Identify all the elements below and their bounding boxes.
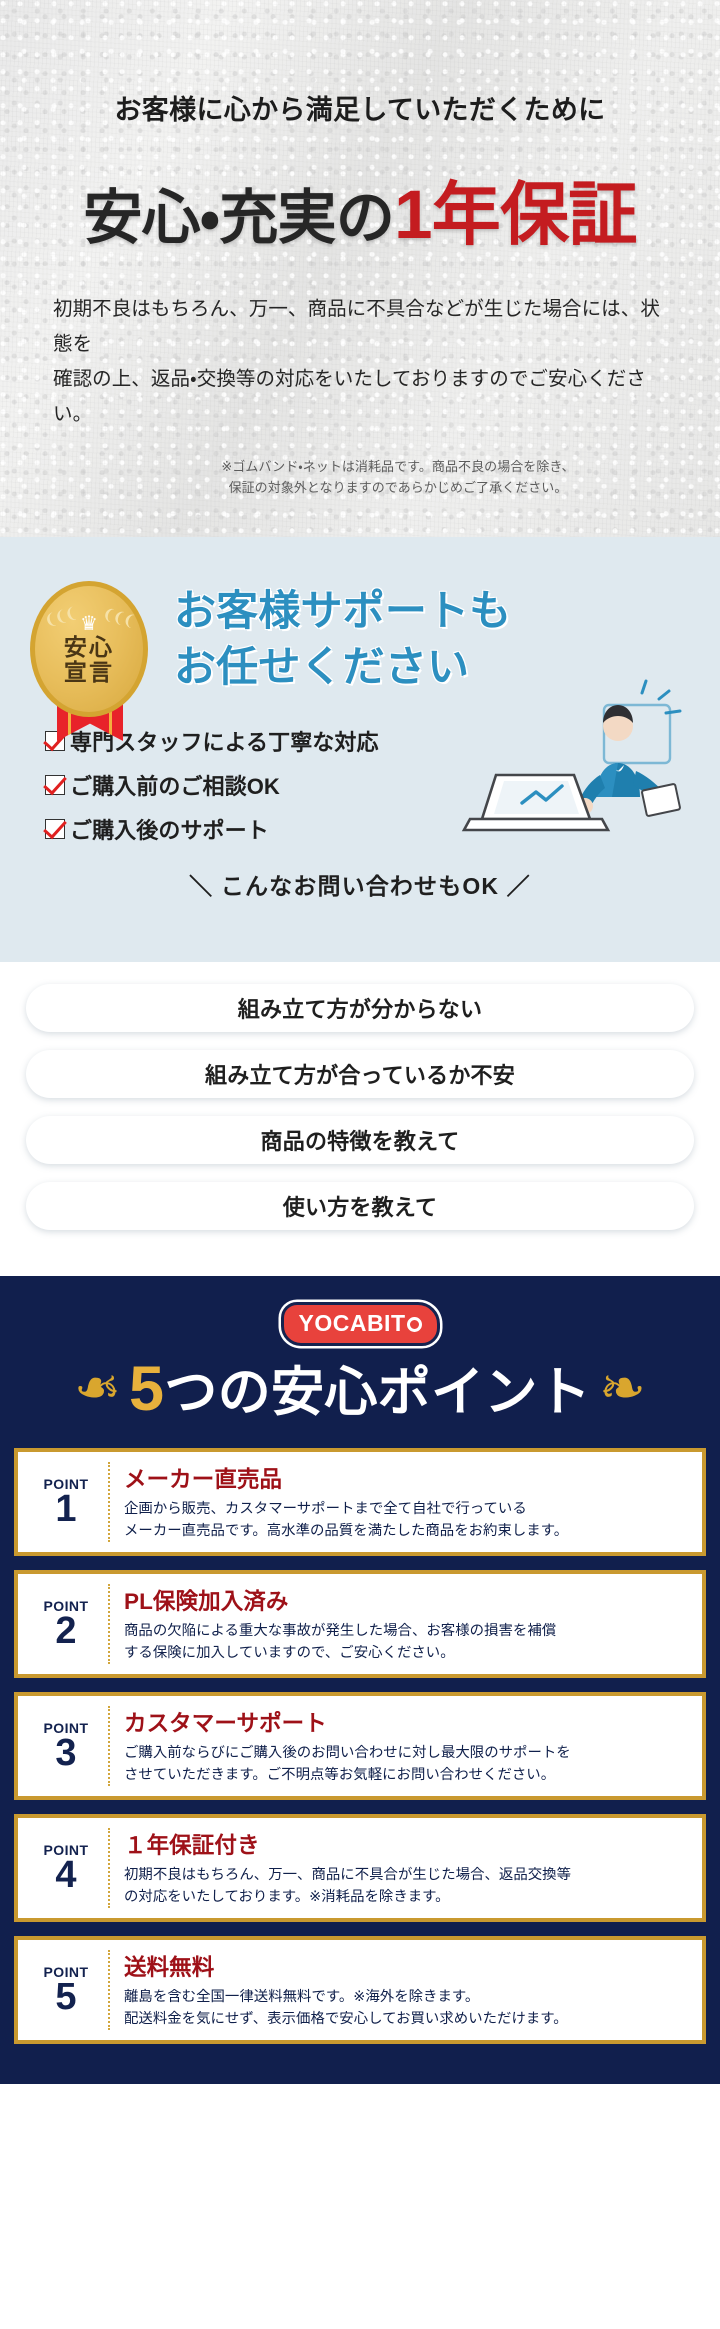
point-number: 2	[55, 1613, 76, 1650]
point-title: メーカー直売品	[124, 1462, 688, 1494]
medal-label-line-1: 安心	[64, 635, 114, 659]
point-card: POINT 3 カスタマーサポート ご購入前ならびにご購入後のお問い合わせに対し…	[14, 1692, 706, 1800]
laurel-left-icon: ❨❨❨	[43, 606, 78, 629]
five-points-section: YOCABIT ❧ 5つの安心ポイント ❧ POINT 1 メーカー直売品 企画…	[0, 1276, 720, 2084]
point-description-line-1: 企画から販売、カスタマーサポートまで全て自社で行っている	[124, 1498, 688, 1520]
point-description: 離島を含む全国一律送料無料です。※海外を除きます。 配送料金を気にせず、表示価格…	[124, 1986, 688, 2030]
medal-label-line-2: 宣言	[64, 660, 114, 684]
checkbox-checked-icon	[45, 819, 65, 839]
support-heading: お客様サポートも お任せください	[174, 577, 511, 696]
warranty-headline-plain: 安心・充実の	[83, 185, 394, 251]
point-description-line-1: ご購入前ならびにご購入後のお問い合わせに対し最大限のサポートを	[124, 1742, 688, 1764]
point-card: POINT 5 送料無料 離島を含む全国一律送料無料です。※海外を除きます。 配…	[14, 1936, 706, 2044]
warranty-body: 初期不良はもちろん、万一、商品に不具合などが生じた場合には、状態を 確認の上、返…	[53, 292, 667, 432]
customer-support-section: ❨❨❨ ❨❨❨ ♛ 安心 宣言 お客様サポートも お任せください 専門スタッフに	[0, 537, 720, 962]
medal-label: 安心 宣言	[64, 635, 114, 683]
point-number: 3	[55, 1735, 76, 1772]
laurel-branch-left-icon: ❧	[74, 1360, 121, 1416]
warranty-section: お客様に心から満足していただくために 安心・充実の1年保証 初期不良はもちろん、…	[0, 0, 720, 537]
point-description: 企画から販売、カスタマーサポートまで全て自社で行っている メーカー直売品です。高…	[124, 1498, 688, 1542]
inquiry-pill[interactable]: 商品の特徴を教えて	[26, 1116, 694, 1164]
point-title: １年保証付き	[124, 1828, 688, 1860]
support-checklist: 専門スタッフによる丁寧な対応 ご購入前のご相談OK ご購入後のサポート	[45, 725, 379, 857]
point-number: 4	[55, 1857, 76, 1894]
warranty-body-line-1: 初期不良はもちろん、万一、商品に不具合などが生じた場合には、状態を	[53, 292, 667, 362]
point-number-block: POINT 5	[32, 1950, 110, 2030]
inquiry-pill[interactable]: 組み立て方が合っているか不安	[26, 1050, 694, 1098]
point-number-block: POINT 2	[32, 1584, 110, 1664]
point-number-block: POINT 3	[32, 1706, 110, 1786]
point-number: 5	[55, 1979, 76, 2016]
warranty-lead-text: お客様に心から満足していただくために	[0, 88, 720, 127]
point-card: POINT 1 メーカー直売品 企画から販売、カスタマーサポートまで全て自社で行…	[14, 1448, 706, 1556]
point-title: PL保険加入済み	[124, 1584, 688, 1616]
five-points-title-number: 5	[129, 1354, 164, 1424]
product-warranty-page: お客様に心から満足していただくために 安心・充実の1年保証 初期不良はもちろん、…	[0, 0, 720, 2329]
warranty-body-line-2: 確認の上、返品・交換等の対応をいたしておりますのでご安心ください。	[53, 362, 667, 432]
checklist-item: ご購入後のサポート	[45, 813, 379, 845]
five-points-title: 5つの安心ポイント	[129, 1350, 591, 1426]
assurance-medal: ❨❨❨ ❨❨❨ ♛ 安心 宣言	[30, 581, 152, 717]
crown-icon: ♛	[80, 614, 98, 634]
point-description-line-2: メーカー直売品です。高水準の品質を満たした商品をお約束します。	[124, 1520, 688, 1542]
support-heading-line-1: お客様サポートも	[174, 583, 511, 639]
point-description-line-1: 初期不良はもちろん、万一、商品に不具合が生じた場合、返品交換等	[124, 1864, 688, 1886]
point-description-line-1: 離島を含む全国一律送料無料です。※海外を除きます。	[124, 1986, 688, 2008]
point-title: カスタマーサポート	[124, 1706, 688, 1738]
medal-oval: ❨❨❨ ❨❨❨ ♛ 安心 宣言	[30, 581, 148, 717]
yocabito-logo-text: YOCABIT	[299, 1310, 406, 1336]
point-description-line-1: 商品の欠陥による重大な事故が発生した場合、お客様の損害を補償	[124, 1620, 688, 1642]
checklist-item: 専門スタッフによる丁寧な対応	[45, 725, 379, 757]
point-description-line-2: する保険に加入していますので、ご安心ください。	[124, 1642, 688, 1664]
point-description-line-2: の対応をいたしております。※消耗品を除きます。	[124, 1886, 688, 1908]
point-number-block: POINT 1	[32, 1462, 110, 1542]
inquiry-pill[interactable]: 使い方を教えて	[26, 1182, 694, 1230]
point-card: POINT 4 １年保証付き 初期不良はもちろん、万一、商品に不具合が生じた場合…	[14, 1814, 706, 1922]
point-description: 商品の欠陥による重大な事故が発生した場合、お客様の損害を補償 する保険に加入して…	[124, 1620, 688, 1664]
point-description-line-2: させていただきます。ご不明点等お気軽にお問い合わせください。	[124, 1764, 688, 1786]
inquiry-section-title: ＼ こんなお問い合わせもOK ／	[0, 857, 720, 901]
warranty-headline-highlight: 1年保証	[394, 176, 637, 253]
points-card-list: POINT 1 メーカー直売品 企画から販売、カスタマーサポートまで全て自社で行…	[0, 1426, 720, 2044]
laurel-branch-right-icon: ❧	[599, 1360, 646, 1416]
point-description: ご購入前ならびにご購入後のお問い合わせに対し最大限のサポートを させていただきま…	[124, 1742, 688, 1786]
warranty-disclaimer-line-1: ※ゴムバンド・ネットは消耗品です。商品不良の場合を除き、	[118, 456, 678, 477]
checklist-item: ご購入前のご相談OK	[45, 769, 379, 801]
checklist-item-label: ご購入前のご相談OK	[70, 769, 280, 801]
laurel-right-icon: ❨❨❨	[101, 606, 136, 629]
five-points-title-rest: つの安心ポイント	[164, 1363, 591, 1422]
warranty-disclaimer-line-2: 保証の対象外となりますのであらかじめご了承ください。	[118, 477, 678, 498]
point-title: 送料無料	[124, 1950, 688, 1982]
yocabito-logo: YOCABIT	[281, 1302, 440, 1346]
point-number: 1	[55, 1491, 76, 1528]
warranty-headline: 安心・充実の1年保証	[0, 158, 720, 258]
warranty-disclaimer: ※ゴムバンド・ネットは消耗品です。商品不良の場合を除き、 保証の対象外となります…	[118, 456, 678, 498]
inquiry-pill[interactable]: 組み立て方が分からない	[26, 984, 694, 1032]
support-staff-illustration	[446, 679, 696, 859]
checklist-item-label: ご購入後のサポート	[70, 813, 269, 845]
point-card: POINT 2 PL保険加入済み 商品の欠陥による重大な事故が発生した場合、お客…	[14, 1570, 706, 1678]
point-description: 初期不良はもちろん、万一、商品に不具合が生じた場合、返品交換等 の対応をいたして…	[124, 1864, 688, 1908]
logo-ring-icon	[407, 1317, 422, 1332]
checkbox-checked-icon	[45, 775, 65, 795]
point-description-line-2: 配送料金を気にせず、表示価格で安心してお買い求めいただけます。	[124, 2008, 688, 2030]
inquiry-examples-list: 組み立て方が分からない 組み立て方が合っているか不安 商品の特徴を教えて 使い方…	[0, 962, 720, 1276]
point-number-block: POINT 4	[32, 1828, 110, 1908]
